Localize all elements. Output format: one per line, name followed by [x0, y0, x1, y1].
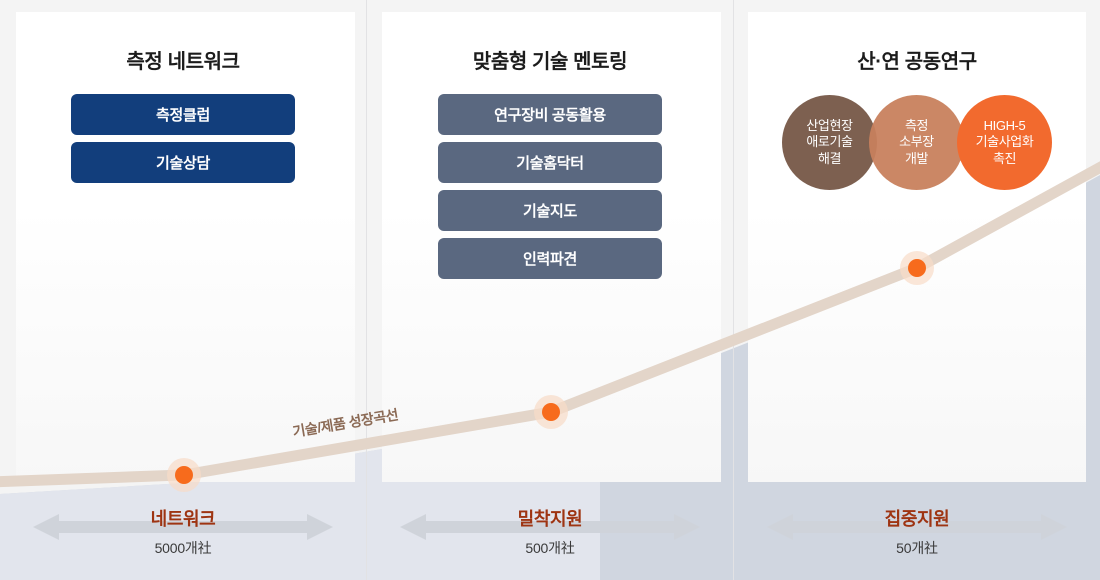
column-tech-mentoring: 맞춤형 기술 멘토링 연구장비 공동활용 기술홈닥터 기술지도 인력파견 밀착지…	[367, 0, 733, 580]
button-stack-2: 연구장비 공동활용 기술홈닥터 기술지도 인력파견	[367, 94, 733, 279]
column-title-2: 맞춤형 기술 멘토링	[367, 52, 733, 72]
band-label-close-support: 밀착지원	[367, 510, 733, 528]
pill-tech-home-doctor[interactable]: 기술홈닥터	[438, 142, 662, 183]
column-title-1: 측정 네트워크	[0, 52, 366, 72]
pill-tech-consulting[interactable]: 기술상담	[71, 142, 295, 183]
band-label-intensive-support: 집중지원	[734, 510, 1100, 528]
band-sub-intensive-support: 50개社	[734, 541, 1100, 555]
venn-circle-high5-commercialization[interactable]: HIGH-5 기술사업화 촉진	[957, 95, 1052, 190]
button-stack-1: 측정클럽 기술상담	[0, 94, 366, 183]
band-sub-network: 5000개社	[0, 541, 366, 555]
venn-circle-materials-parts[interactable]: 측정 소부장 개발	[869, 95, 964, 190]
column-joint-research: 산·연 공동연구 산업현장 애로기술 해결 측정 소부장 개발 HIGH-5 기…	[734, 0, 1100, 580]
column-measurement-network: 측정 네트워크 측정클럽 기술상담 네트워크 5000개社	[0, 0, 366, 580]
pill-tech-guidance[interactable]: 기술지도	[438, 190, 662, 231]
pill-staff-dispatch[interactable]: 인력파견	[438, 238, 662, 279]
pill-measurement-club[interactable]: 측정클럽	[71, 94, 295, 135]
pill-equipment-sharing[interactable]: 연구장비 공동활용	[438, 94, 662, 135]
venn-circle-industry-issue[interactable]: 산업현장 애로기술 해결	[782, 95, 877, 190]
column-title-3: 산·연 공동연구	[734, 52, 1100, 72]
infographic-canvas: 측정 네트워크 측정클럽 기술상담 네트워크 5000개社 맞춤형 기술 멘토링…	[0, 0, 1100, 580]
venn-diagram: 산업현장 애로기술 해결 측정 소부장 개발 HIGH-5 기술사업화 촉진	[782, 95, 1052, 190]
band-sub-close-support: 500개社	[367, 541, 733, 555]
band-label-network: 네트워크	[0, 510, 366, 528]
